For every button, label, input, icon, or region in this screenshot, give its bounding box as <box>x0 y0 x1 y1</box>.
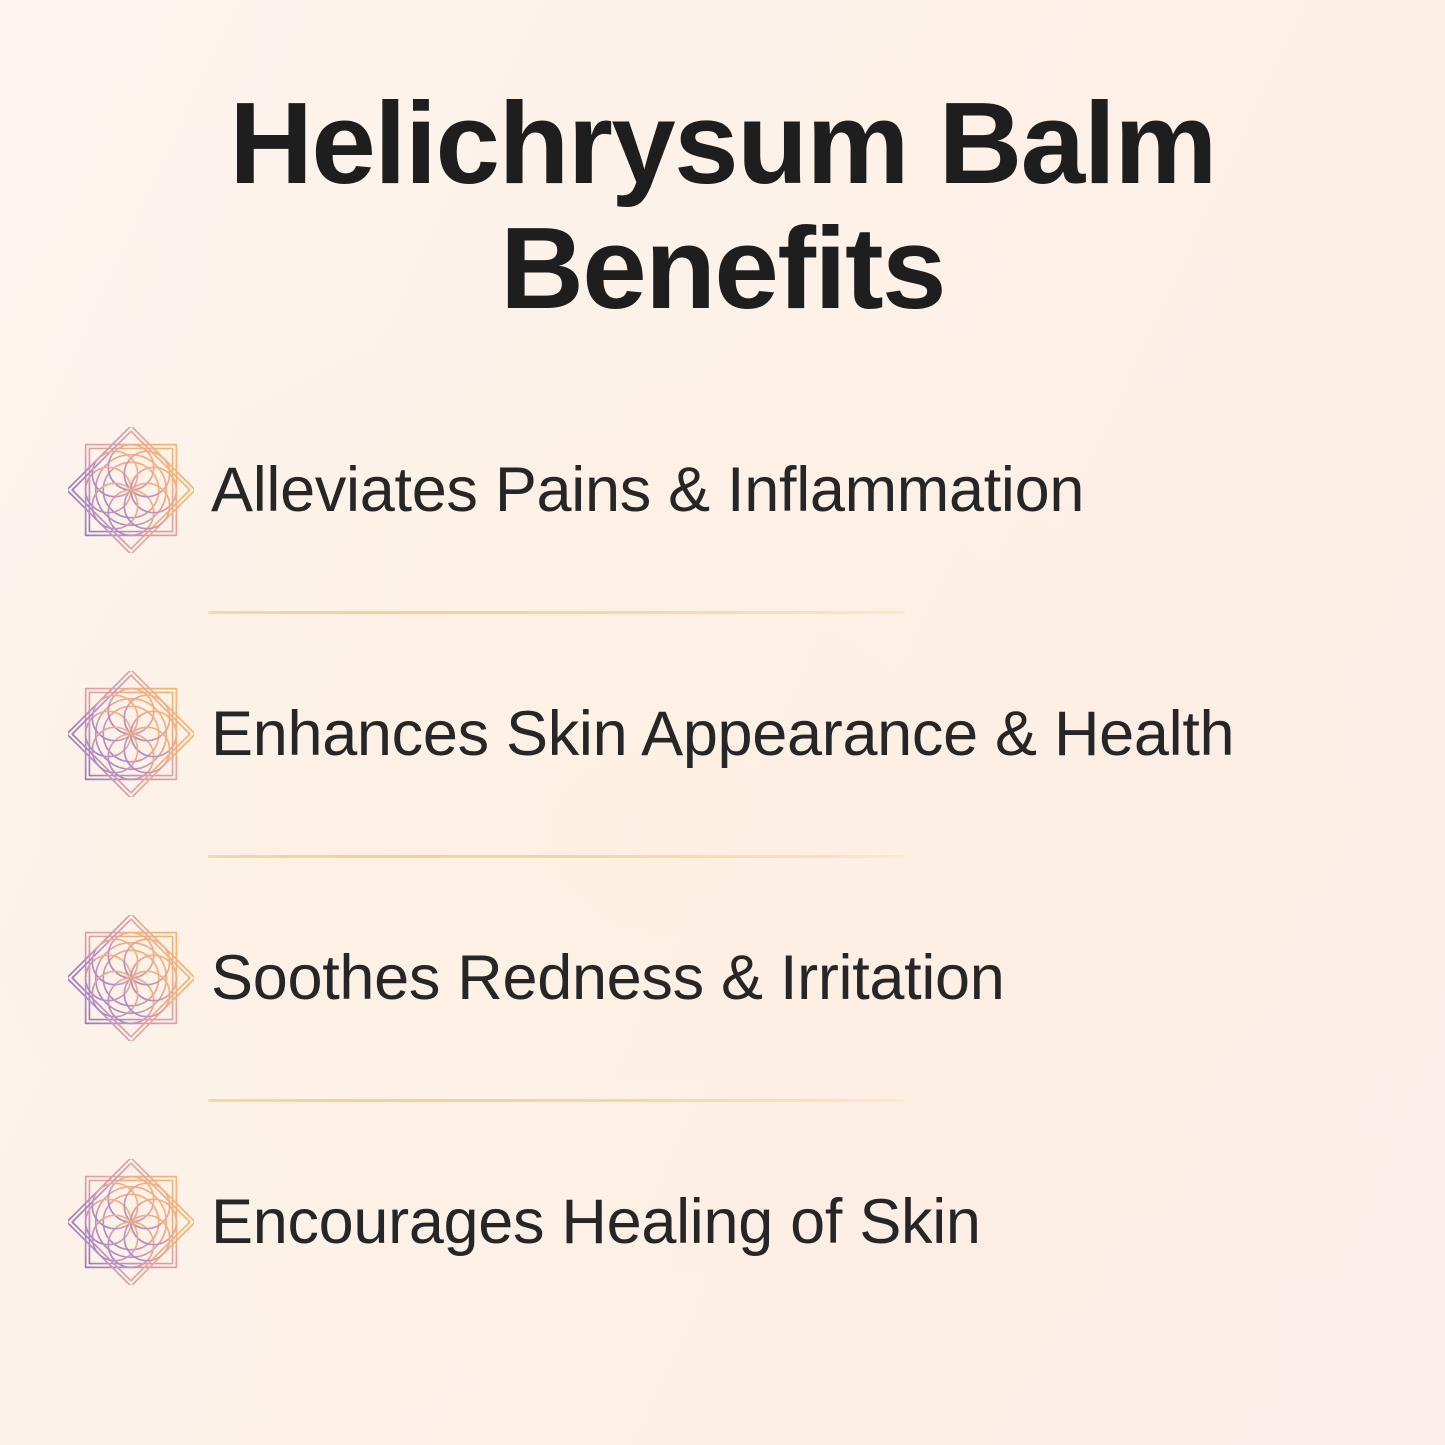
benefits-list: Alleviates Pains & Inflammation <box>0 408 1445 1304</box>
benefit-item-3: Soothes Redness & Irritation <box>0 896 1445 1060</box>
page-title-line-2: Benefits <box>90 211 1355 326</box>
benefit-divider-1 <box>0 572 1445 652</box>
benefit-label-1: Alleviates Pains & Inflammation <box>211 456 1445 524</box>
benefit-divider-2 <box>0 816 1445 896</box>
benefit-item-2: Enhances Skin Appearance & Health <box>0 652 1445 816</box>
divider-line <box>208 611 905 614</box>
page-title-line-1: Helichrysum Balm <box>90 86 1355 201</box>
divider-line <box>208 855 905 858</box>
page-title: Helichrysum Balm Benefits <box>0 86 1445 326</box>
mandala-star-icon <box>68 1159 194 1285</box>
benefit-label-3: Soothes Redness & Irritation <box>211 944 1445 1012</box>
divider-line <box>208 1099 905 1102</box>
content-wrapper: Helichrysum Balm Benefits <box>0 0 1445 1445</box>
mandala-star-icon <box>68 671 194 797</box>
mandala-star-icon <box>68 915 194 1041</box>
benefit-label-4: Encourages Healing of Skin <box>211 1188 1445 1256</box>
infographic-canvas: Helichrysum Balm Benefits <box>0 0 1445 1445</box>
benefit-divider-3 <box>0 1060 1445 1140</box>
benefit-label-2: Enhances Skin Appearance & Health <box>211 700 1445 768</box>
mandala-star-icon <box>68 427 194 553</box>
benefit-item-4: Encourages Healing of Skin <box>0 1140 1445 1304</box>
benefit-item-1: Alleviates Pains & Inflammation <box>0 408 1445 572</box>
